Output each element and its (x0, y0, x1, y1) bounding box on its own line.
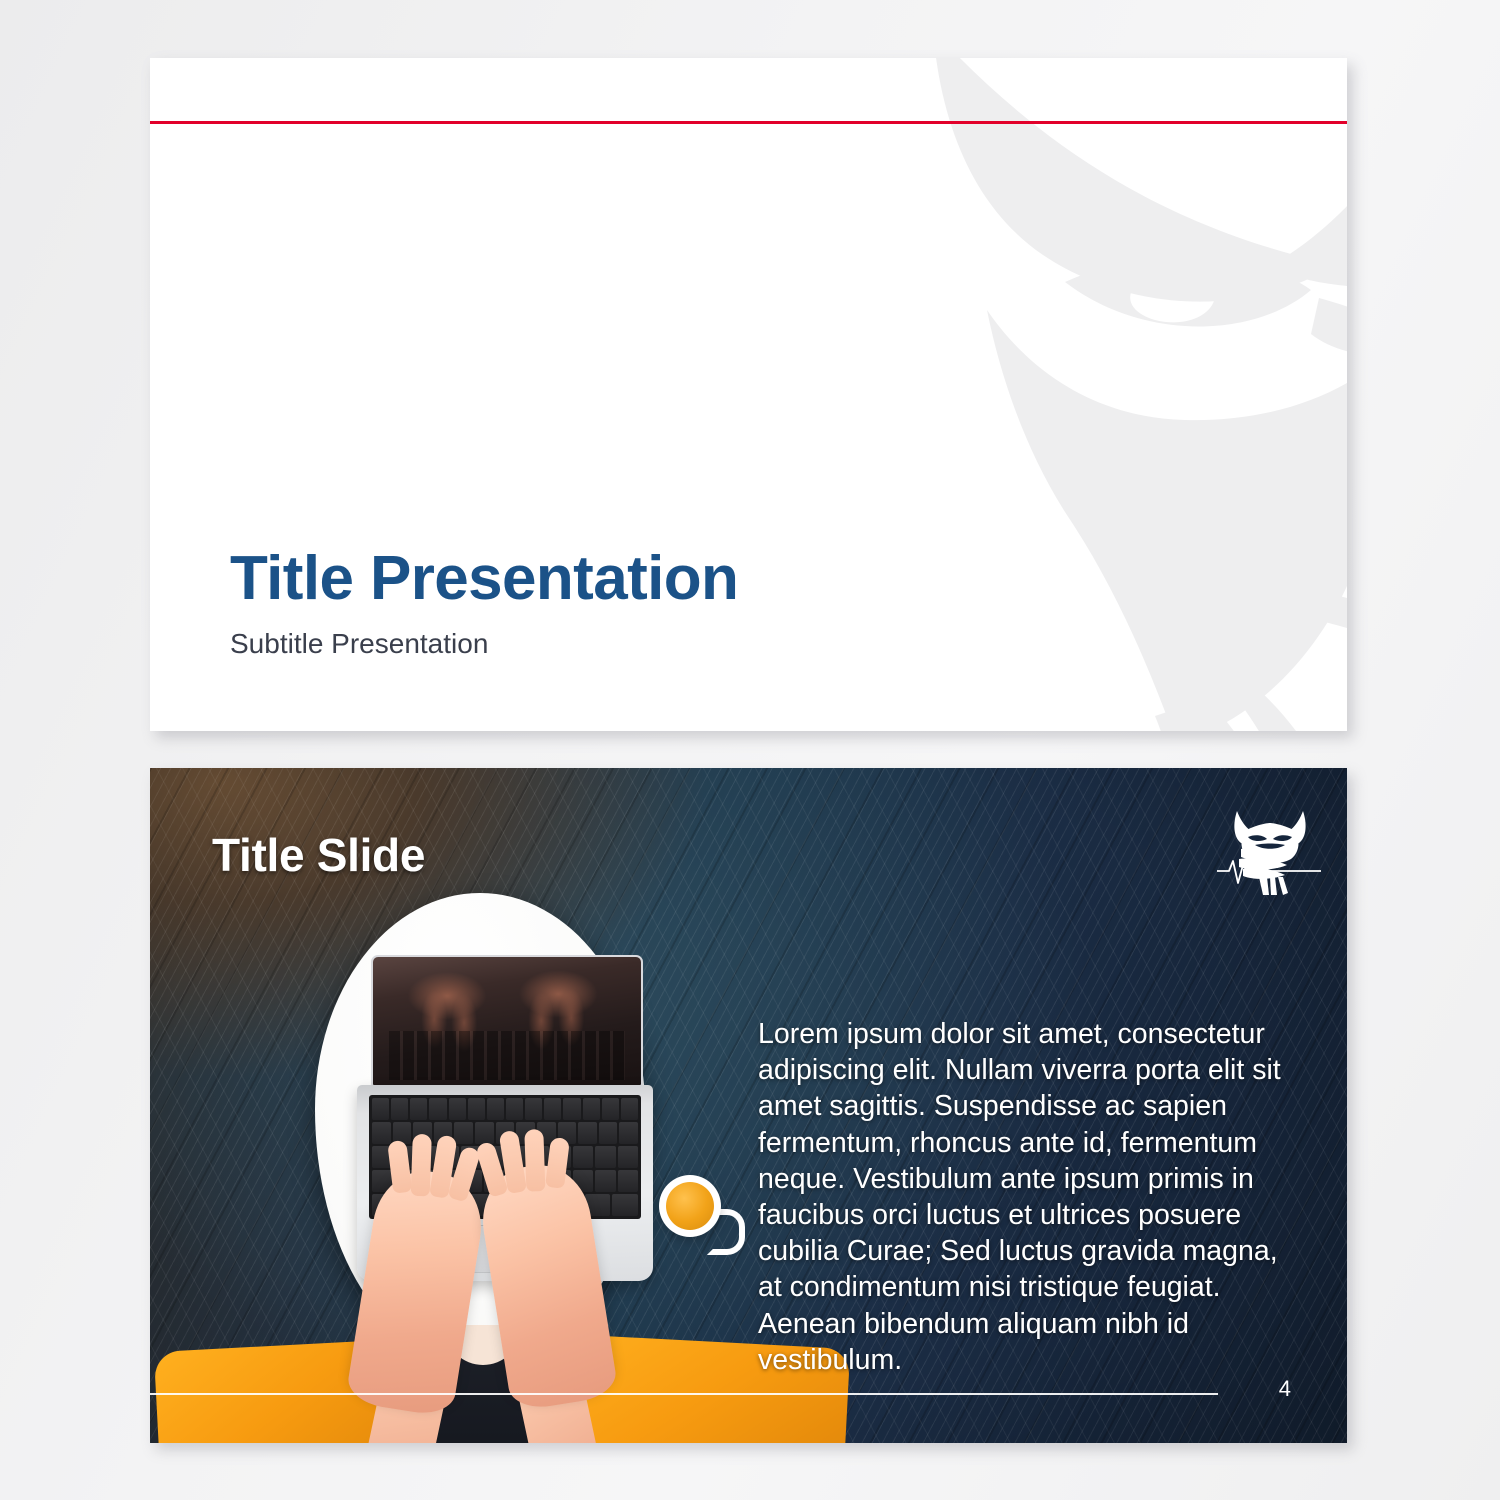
body-text: Lorem ipsum dolor sit amet, consectetur … (758, 1016, 1306, 1378)
red-rule-divider (150, 121, 1347, 124)
person-typing-laptop-photo (285, 893, 765, 1443)
page-subtitle: Subtitle Presentation (230, 628, 488, 660)
laptop-screen (371, 955, 643, 1087)
page-title: Title Presentation (230, 543, 738, 614)
footer-rule (150, 1393, 1218, 1395)
screen-reflection-keyboard (389, 1031, 625, 1080)
owl-logo-icon (1215, 803, 1325, 895)
coffee-cup (659, 1175, 721, 1237)
owl-watermark-icon (915, 58, 1347, 731)
slide-heading: Title Slide (212, 828, 425, 882)
page-number: 4 (1279, 1376, 1291, 1402)
slide-content[interactable]: Title Slide (150, 768, 1347, 1443)
round-table (315, 893, 645, 1363)
slide-title[interactable]: Title Presentation Subtitle Presentation (150, 58, 1347, 731)
